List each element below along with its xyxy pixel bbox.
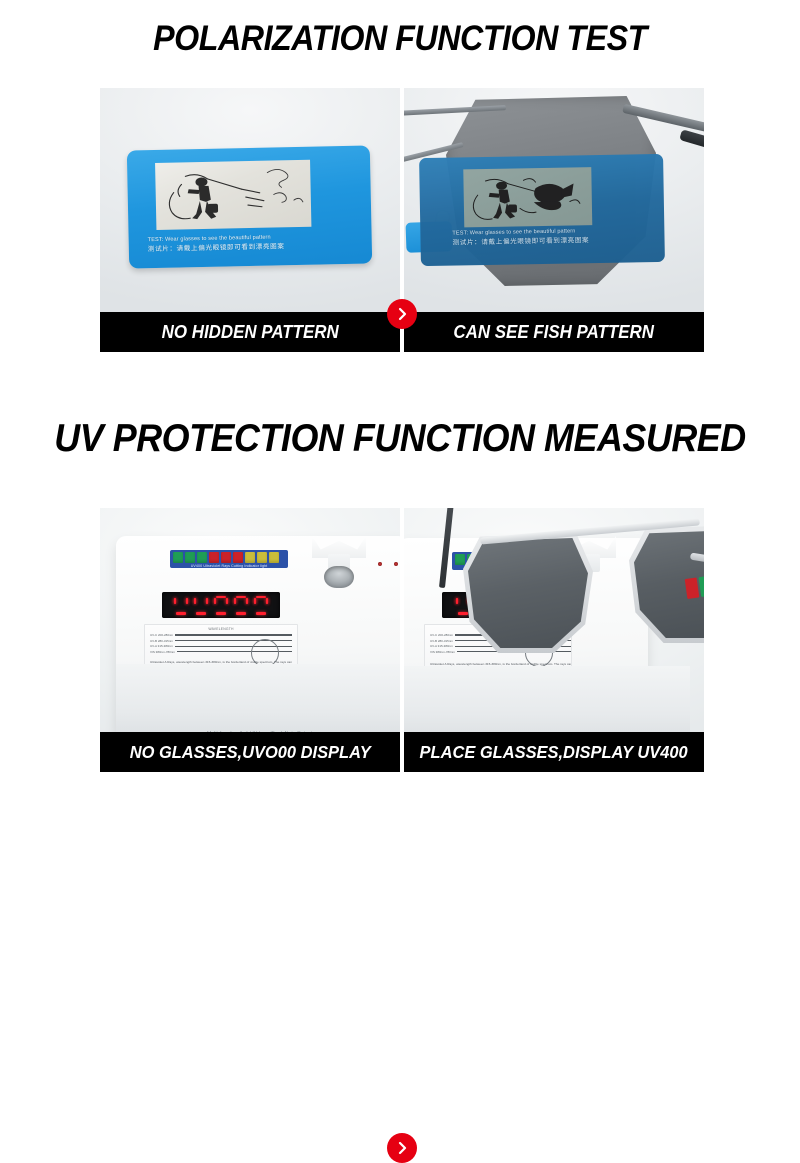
sunglasses-over-card: TEST: Wear glasses to see the beautiful … [404,90,704,308]
caption-no-glasses: NO GLASSES,UVO00 DISPLAY [100,732,400,772]
caption-can-see-fish-pattern: CAN SEE FISH PATTERN [404,312,704,352]
info-row-label: UV-B 280-315nm [430,639,453,643]
caption-place-glasses: PLACE GLASSES,DISPLAY UV400 [404,732,704,772]
led-digit [194,596,208,615]
photo-uv-detector-with-glasses: UV400 Ultraviolet Rays Cutting Indicator… [404,508,704,732]
fisherman-sketch-icon [155,160,311,230]
uv-indicator-strip: UV400 Ultraviolet Rays Cutting Indicator… [170,550,288,568]
temple-tip [679,129,704,149]
sensor-well [324,566,354,588]
page-title-polarization: POLARIZATION FUNCTION TEST [32,18,768,60]
panel-can-see-fish-pattern: TEST: Wear glasses to see the beautiful … [404,88,704,352]
indicator-chip [233,552,243,563]
photo-test-card-through-lens: TEST: Wear glasses to see the beautiful … [404,88,704,312]
device-model-name: Multi-function Anti-UV Lens/Bank Note De… [116,731,400,732]
indicator-chip [209,552,219,563]
sensor-head [312,536,366,588]
test-card-window [155,160,311,230]
info-label-heading: WAVELENGTH [145,627,297,631]
led-digit [254,596,268,615]
uv-panel-row: UV400 Ultraviolet Rays Cutting Indicator… [0,508,800,776]
polarization-test-card: TEST: Wear glasses to see the beautiful … [127,145,372,268]
uv-detector-device: UV400 Ultraviolet Rays Cutting Indicator… [116,536,400,732]
device-front-face: Multi-function Anti-UV Lens/Bank Note De… [116,664,400,732]
panel-no-glasses: UV400 Ultraviolet Rays Cutting Indicator… [100,508,400,772]
polarization-panel-row: TEST: Wear glasses to see the beautiful … [0,88,800,354]
indicator-chip [173,552,183,563]
info-row-label: UV-A 315-380nm [430,644,453,648]
indicator-chip [245,552,255,563]
info-row-label: UV-C 200-280nm [430,633,453,637]
sunglass-lens-left [468,538,588,648]
indicator-chip [197,552,207,563]
test-card-window-revealed [463,167,592,227]
led-display-no-glasses [162,592,280,618]
panel-no-hidden-pattern: TEST: Wear glasses to see the beautiful … [100,88,400,352]
uv-strip-label: UV400 Ultraviolet Rays Cutting Indicator… [170,564,288,568]
indicator-chip [185,552,195,563]
caption-label: NO GLASSES,UVO00 DISPLAY [129,742,370,763]
polarization-test-card-viewed: TEST: Wear glasses to see the beautiful … [419,154,665,266]
caption-label: CAN SEE FISH PATTERN [454,322,655,343]
info-row-label: UV-C 200-280nm [150,633,173,637]
power-led-icon [378,562,382,566]
led-digit [214,596,228,615]
led-digit [234,596,248,615]
info-row-label: UV-A 315-380nm [150,644,173,648]
page-title-uv: UV PROTECTION FUNCTION MEASURED [32,415,768,463]
info-row-label: UV-B 280-315nm [150,639,173,643]
chevron-right-icon [387,299,417,329]
info-row-label: VIS 380nm-780nm [430,650,455,654]
chevron-right-icon [387,1133,417,1163]
caption-label: PLACE GLASSES,DISPLAY UV400 [420,742,688,763]
sunglasses-on-detector [462,514,704,654]
fish-pattern-icon [463,167,592,227]
test-card-instructions: TEST: Wear glasses to see the beautiful … [148,232,358,254]
device-front-face [404,666,690,732]
indicator-chip [269,552,279,563]
caption-label: NO HIDDEN PATTERN [161,322,338,343]
panel-place-glasses: UV400 Ultraviolet Rays Cutting Indicator… [404,508,704,772]
led-digit [174,596,188,615]
photo-test-card-plain: TEST: Wear glasses to see the beautiful … [100,88,400,312]
photo-uv-detector-no-glasses: UV400 Ultraviolet Rays Cutting Indicator… [100,508,400,732]
info-row-label: VIS 380nm-780nm [150,650,175,654]
power-led-icon [394,562,398,566]
infographic-page: POLARIZATION FUNCTION TEST [0,0,800,800]
test-card-instructions: TEST: Wear glasses to see the beautiful … [452,226,662,248]
indicator-chip [221,552,231,563]
indicator-chip [257,552,267,563]
caption-no-hidden-pattern: NO HIDDEN PATTERN [100,312,400,352]
